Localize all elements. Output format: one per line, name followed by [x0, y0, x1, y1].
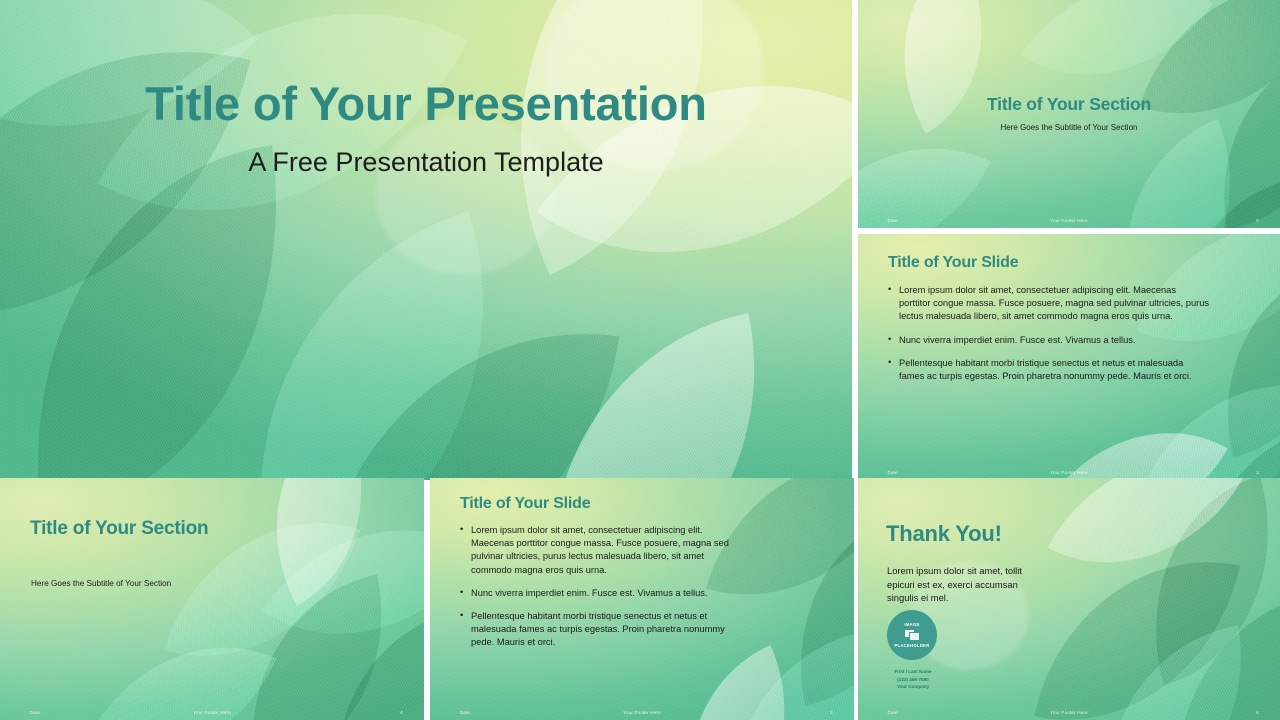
footer-center-text: Your Footer Here: [1050, 710, 1088, 715]
contact-name: First / Last Name: [887, 668, 939, 676]
contact-phone: (123) 456-7890: [887, 676, 939, 684]
footer-date: Date: [888, 710, 898, 715]
footer-center-text: Your Footer Here: [623, 710, 661, 715]
list-item: Pellentesque habitant morbi tristique se…: [888, 357, 1210, 383]
contact-block: First / Last Name (123) 456-7890 Your Co…: [887, 668, 939, 691]
section-title: Title of Your Section: [30, 518, 230, 539]
page-title: Title of Your Presentation: [0, 78, 852, 131]
slide-content-bottom[interactable]: Title of Your Slide Lorem ipsum dolor si…: [430, 478, 854, 720]
slide-footer: Date Your Footer Here 6: [858, 704, 1280, 720]
slide-title: Title of Your Slide: [888, 254, 1018, 272]
footer-date: Date: [460, 710, 470, 715]
slide-section-centered[interactable]: Title of Your Section Here Goes the Subt…: [858, 0, 1280, 228]
slide-footer: Date Your Footer Here 2: [430, 704, 854, 720]
list-item: Pellentesque habitant morbi tristique se…: [460, 610, 745, 650]
section-subtitle: Here Goes the Subtitle of Your Section: [31, 579, 171, 588]
slide-body: Lorem ipsum dolor sit amet, consectetuer…: [888, 284, 1210, 393]
image-placeholder-icon: [904, 629, 920, 641]
footer-page-number: 4: [400, 710, 403, 715]
image-placeholder-bottom-label: PLACEHOLDER: [894, 643, 929, 648]
slide-title-slide[interactable]: Title of Your Presentation A Free Presen…: [0, 0, 852, 480]
footer-center-text: Your Footer Here: [193, 710, 231, 715]
footer-date: Date: [30, 710, 40, 715]
page-subtitle: A Free Presentation Template: [0, 147, 852, 178]
slide-title: Title of Your Slide: [460, 495, 590, 513]
slide-footer: Date Your Footer Here 5: [858, 212, 1280, 228]
closing-title: Thank You!: [886, 522, 1002, 547]
image-placeholder[interactable]: IMAGE PLACEHOLDER: [887, 610, 937, 660]
footer-center-text: Your Footer Here: [1050, 218, 1088, 223]
contact-company: Your Company: [887, 683, 939, 691]
image-placeholder-top-label: IMAGE: [904, 622, 919, 627]
section-title: Title of Your Section: [858, 95, 1280, 115]
footer-page-number: 3: [1256, 470, 1259, 475]
footer-page-number: 6: [1256, 710, 1259, 715]
footer-date: Date: [888, 470, 898, 475]
slide-section-left[interactable]: Title of Your Section Here Goes the Subt…: [0, 478, 424, 720]
list-item: Nunc viverra imperdiet enim. Fusce est. …: [460, 587, 745, 600]
slide-footer: Date Your Footer Here 4: [0, 704, 424, 720]
slide-background-art: [0, 478, 424, 720]
closing-body-text: Lorem ipsum dolor sit amet, tollit epicu…: [887, 564, 1047, 605]
section-subtitle: Here Goes the Subtitle of Your Section: [858, 123, 1280, 132]
slide-content-right[interactable]: Title of Your Slide Lorem ipsum dolor si…: [858, 234, 1280, 480]
bullet-list: Lorem ipsum dolor sit amet, consectetuer…: [888, 284, 1210, 383]
list-item: Nunc viverra imperdiet enim. Fusce est. …: [888, 334, 1210, 347]
list-item: Lorem ipsum dolor sit amet, consectetuer…: [460, 524, 745, 577]
slide-body: Lorem ipsum dolor sit amet, consectetuer…: [460, 524, 745, 660]
footer-center-text: Your Footer Here: [1050, 470, 1088, 475]
footer-page-number: 2: [830, 710, 833, 715]
slide-deck-preview: Title of Your Presentation A Free Presen…: [0, 0, 1280, 720]
list-item: Lorem ipsum dolor sit amet, consectetuer…: [888, 284, 1210, 324]
slide-background-art: [0, 0, 852, 480]
footer-page-number: 5: [1256, 218, 1259, 223]
footer-date: Date: [888, 218, 898, 223]
slide-thank-you[interactable]: Thank You! Lorem ipsum dolor sit amet, t…: [858, 478, 1280, 720]
bullet-list: Lorem ipsum dolor sit amet, consectetuer…: [460, 524, 745, 650]
